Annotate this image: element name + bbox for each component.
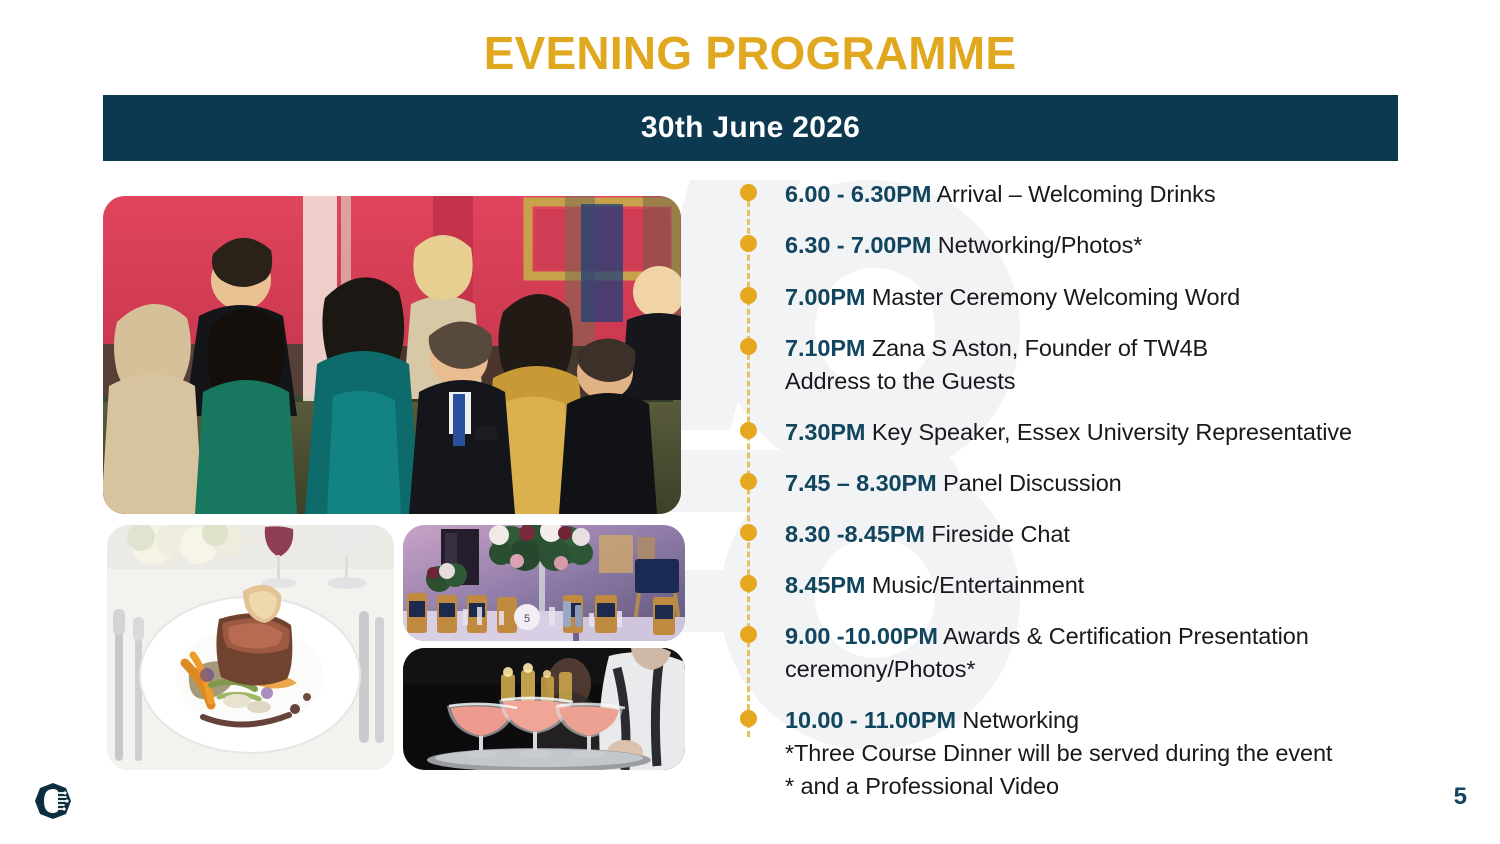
programme-timeline: 6.00 - 6.30PM Arrival – Welcoming Drinks…	[738, 178, 1458, 803]
timeline-entry-description: Arrival – Welcoming Drinks	[931, 181, 1215, 207]
timeline-entry-time: 8.30 -8.45PM	[785, 521, 925, 547]
timeline-entry-text: 10.00 - 11.00PM Networking *Three Course…	[785, 704, 1458, 803]
page-number: 5	[1454, 783, 1467, 811]
timeline-entry-text: 7.30PM Key Speaker, Essex University Rep…	[785, 416, 1458, 449]
timeline-item: 7.00PM Master Ceremony Welcoming Word	[738, 281, 1458, 314]
svg-text:5: 5	[524, 613, 530, 625]
timeline-entry-text: 7.45 – 8.30PM Panel Discussion	[785, 467, 1458, 500]
timeline-entry-description: Music/Entertainment	[865, 572, 1084, 598]
timeline-entry-text: 7.00PM Master Ceremony Welcoming Word	[785, 281, 1458, 314]
timeline-entry-time: 9.00 -10.00PM	[785, 623, 938, 649]
timeline-entry-description: Fireside Chat	[925, 521, 1070, 547]
timeline-bullet-dot-icon	[740, 235, 757, 252]
plated-dinner-photo	[107, 525, 394, 770]
timeline-bullet-dot-icon	[740, 626, 757, 643]
timeline-entry-text: 8.45PM Music/Entertainment	[785, 569, 1458, 602]
timeline-entry-time: 7.10PM	[785, 335, 865, 361]
cocktail-tray-photo	[403, 648, 685, 770]
page-title: EVENING PROGRAMME	[0, 26, 1500, 80]
timeline-item: 6.00 - 6.30PM Arrival – Welcoming Drinks	[738, 178, 1458, 211]
timeline-bullet-dot-icon	[740, 184, 757, 201]
timeline-bullet-dot-icon	[740, 710, 757, 727]
timeline-entry-text: 9.00 -10.00PM Awards & Certification Pre…	[785, 620, 1458, 686]
timeline-item: 10.00 - 11.00PM Networking *Three Course…	[738, 704, 1458, 803]
timeline-entry-description: Panel Discussion	[937, 470, 1122, 496]
timeline-entry-time: 6.30 - 7.00PM	[785, 232, 931, 258]
date-banner: 30th June 2026	[103, 95, 1398, 161]
timeline-entry-description: Master Ceremony Welcoming Word	[865, 284, 1240, 310]
timeline-bullet-dot-icon	[740, 473, 757, 490]
timeline-entry-time: 8.45PM	[785, 572, 865, 598]
timeline-item: 8.30 -8.45PM Fireside Chat	[738, 518, 1458, 551]
timeline-entry-text: 8.30 -8.45PM Fireside Chat	[785, 518, 1458, 551]
timeline-entry-text: 6.30 - 7.00PM Networking/Photos*	[785, 229, 1458, 262]
timeline-bullet-dot-icon	[740, 575, 757, 592]
timeline-item: 6.30 - 7.00PM Networking/Photos*	[738, 229, 1458, 262]
timeline-entry-description: Networking/Photos*	[931, 232, 1142, 258]
timeline-entry-text: 7.10PM Zana S Aston, Founder of TW4B Add…	[785, 332, 1458, 398]
timeline-entry-description: Key Speaker, Essex University Representa…	[865, 419, 1352, 445]
timeline-entry-time: 7.00PM	[785, 284, 865, 310]
timeline-entry-time: 7.30PM	[785, 419, 865, 445]
timeline-bullet-dot-icon	[740, 338, 757, 355]
timeline-item: 8.45PM Music/Entertainment	[738, 569, 1458, 602]
timeline-entry-text: 6.00 - 6.30PM Arrival – Welcoming Drinks	[785, 178, 1458, 211]
timeline-bullet-dot-icon	[740, 422, 757, 439]
timeline-item: 7.30PM Key Speaker, Essex University Rep…	[738, 416, 1458, 449]
timeline-item: 7.10PM Zana S Aston, Founder of TW4B Add…	[738, 332, 1458, 398]
timeline-entry-time: 7.45 – 8.30PM	[785, 470, 937, 496]
timeline-entry-time: 10.00 - 11.00PM	[785, 707, 956, 733]
timeline-entry-time: 6.00 - 6.30PM	[785, 181, 931, 207]
tw4b-hex-logo-icon	[33, 782, 73, 820]
networking-crowd-photo	[103, 196, 681, 514]
banquet-tables-photo: 5	[403, 525, 685, 641]
timeline-bullet-dot-icon	[740, 287, 757, 304]
timeline-bullet-dot-icon	[740, 524, 757, 541]
date-banner-label: 30th June 2026	[641, 111, 860, 145]
timeline-item: 9.00 -10.00PM Awards & Certification Pre…	[738, 620, 1458, 686]
slide-evening-programme: EVENING PROGRAMME 30th June 2026	[0, 0, 1500, 844]
timeline-item: 7.45 – 8.30PM Panel Discussion	[738, 467, 1458, 500]
